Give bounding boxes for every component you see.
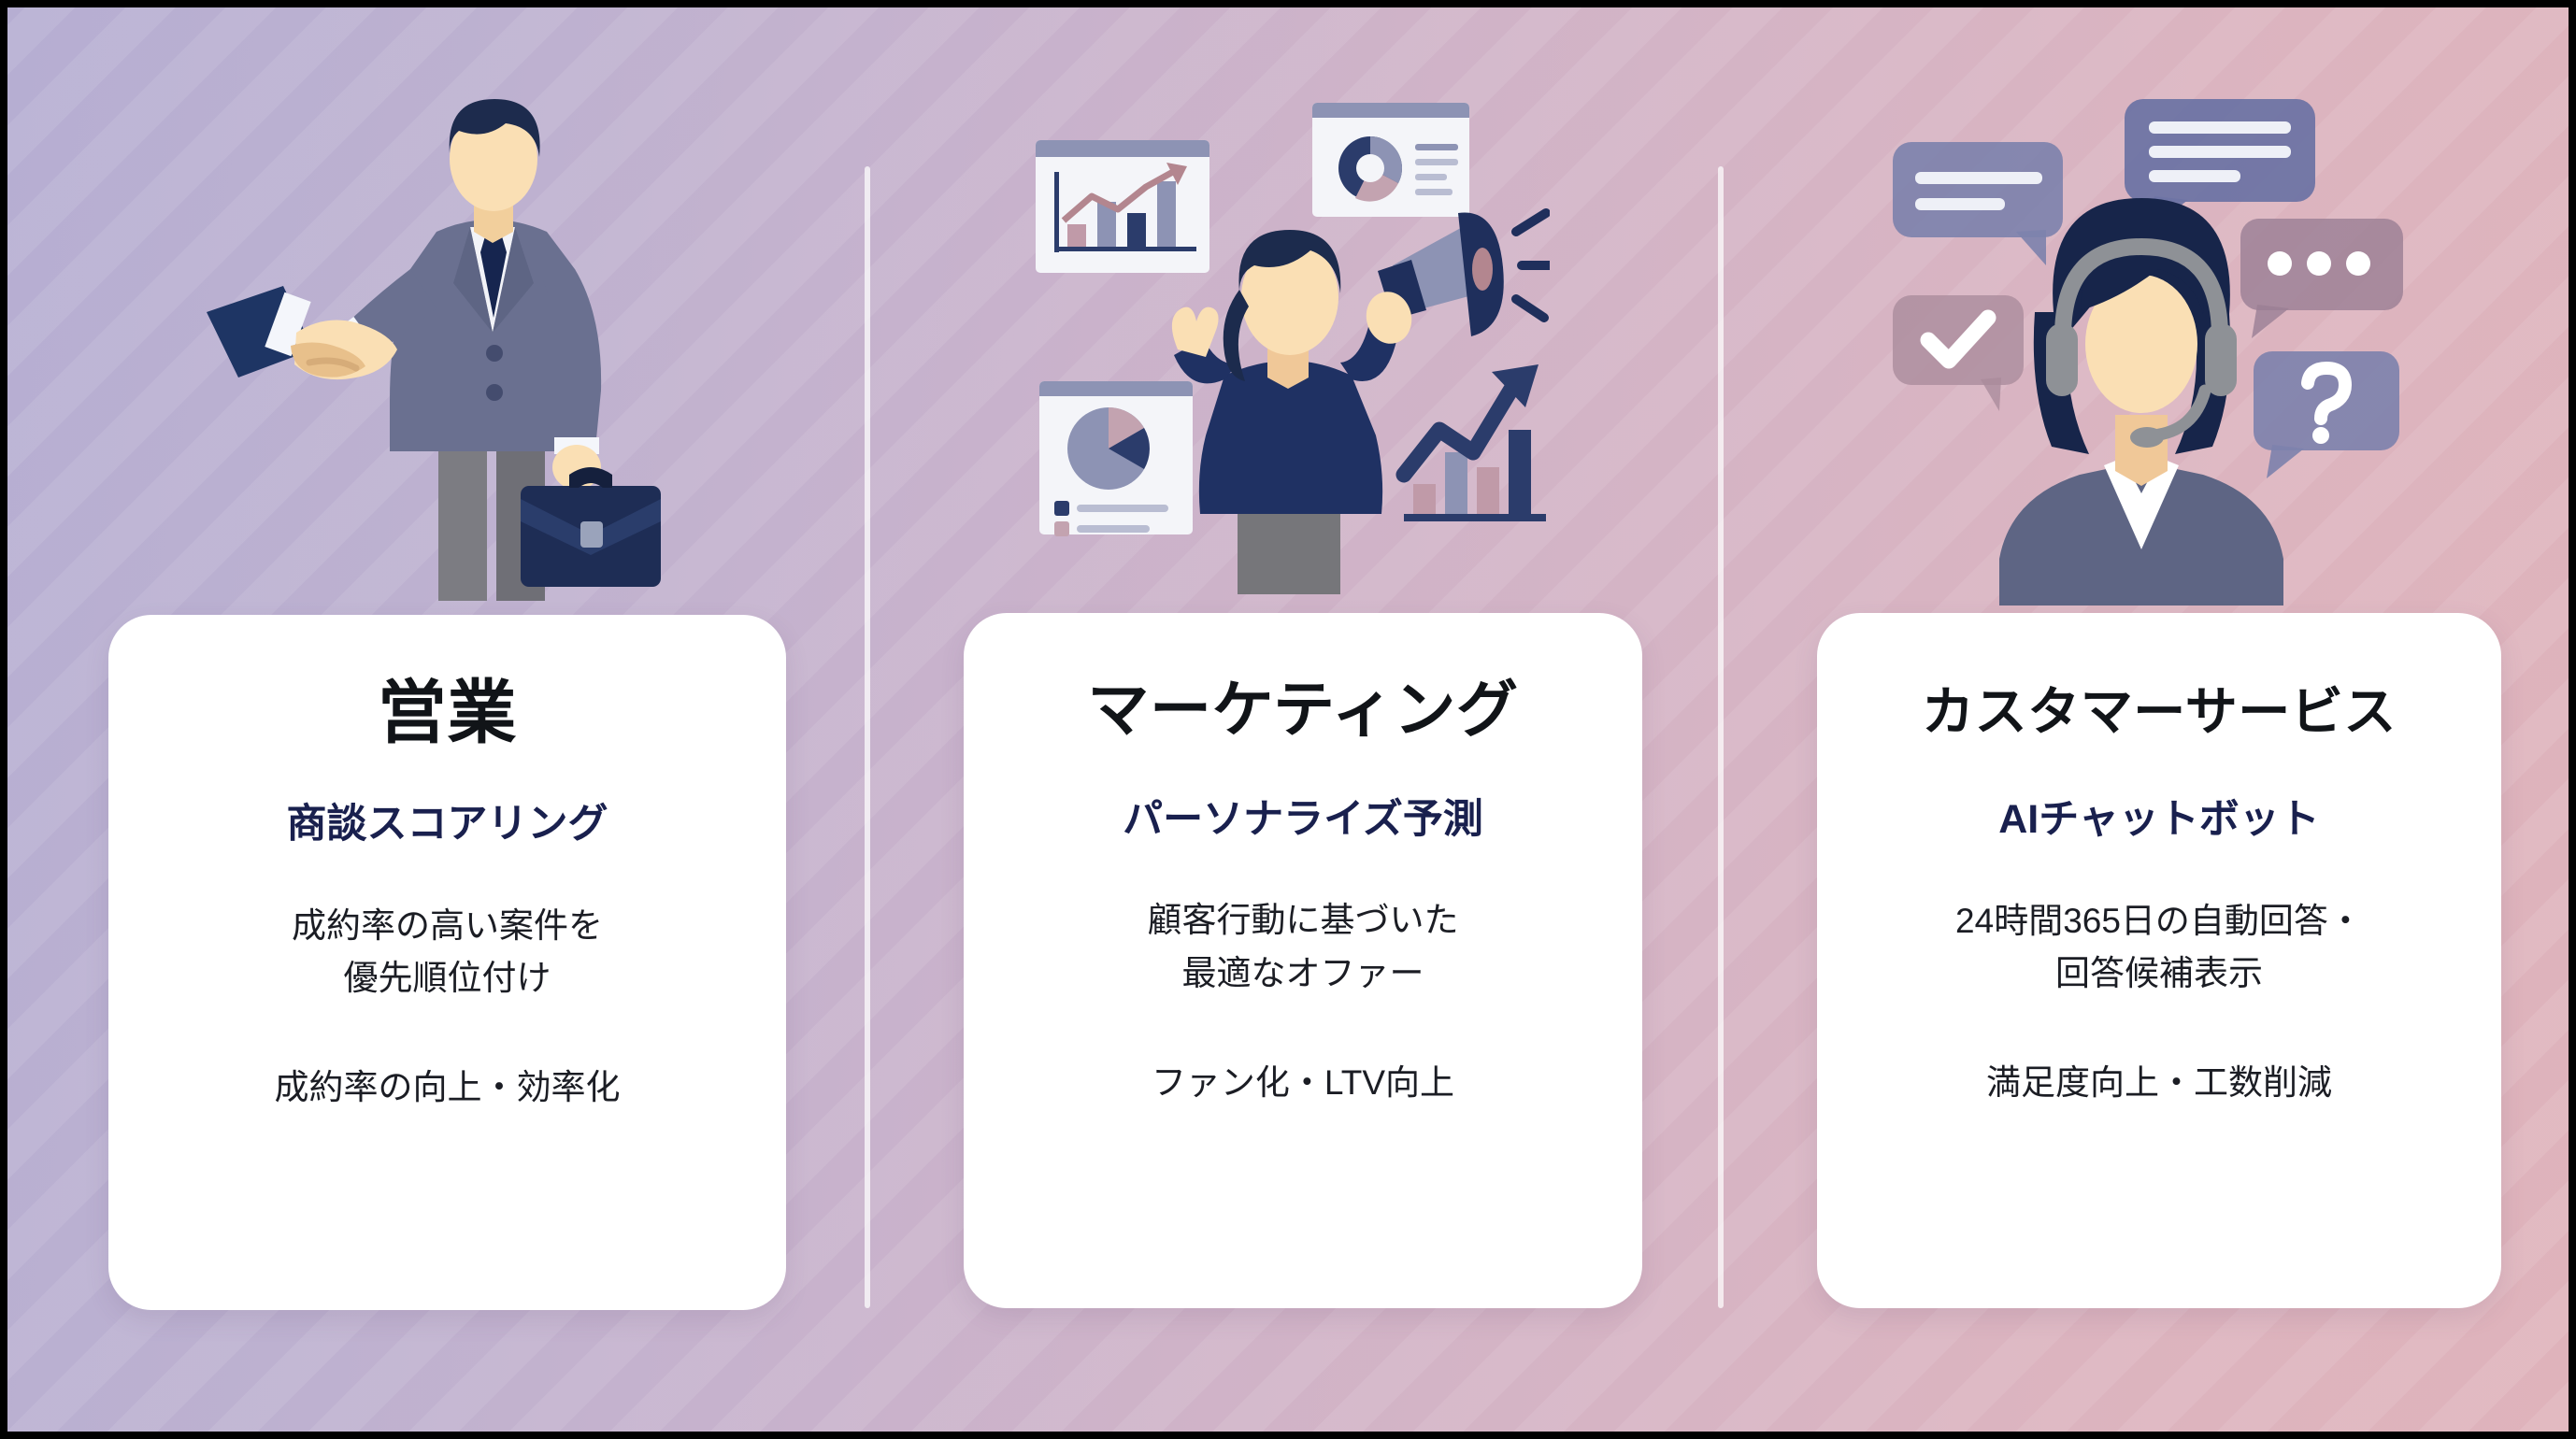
card-subtitle: AIチャットボット bbox=[1817, 796, 2501, 845]
businessman-handshake-briefcase-illustration bbox=[173, 82, 696, 606]
card-description-line-2: 最適なオファー bbox=[964, 947, 1642, 1000]
support-agent-headset-chat-bubbles-illustration bbox=[1880, 82, 2403, 606]
card-benefit: 成約率の向上・効率化 bbox=[108, 1059, 786, 1109]
card-subtitle: 商談スコアリング bbox=[108, 801, 786, 849]
card-title: 営業 bbox=[108, 673, 786, 752]
card-title: カスタマーサービス bbox=[1817, 682, 2501, 742]
marketing-woman-megaphone-charts-illustration bbox=[1026, 82, 1550, 606]
column-customer-service: カスタマーサービス AIチャットボット 24時間365日の自動回答・ 回答候補表… bbox=[1714, 7, 2568, 1432]
card-subtitle: パーソナライズ予測 bbox=[964, 796, 1642, 845]
card-benefit: 満足度向上・工数削減 bbox=[1817, 1054, 2501, 1104]
card-description: 成約率の高い案件を 優先順位付け bbox=[108, 900, 786, 1004]
column-sales: 営業 商談スコアリング 成約率の高い案件を 優先順位付け 成約率の向上・効率化 bbox=[7, 7, 861, 1432]
card-title: マーケティング bbox=[964, 675, 1642, 746]
card-description-line-2: 回答候補表示 bbox=[1817, 947, 2501, 1000]
card-description-line-1: 成約率の高い案件を bbox=[292, 906, 603, 945]
card-description: 顧客行動に基づいた 最適なオファー bbox=[964, 894, 1642, 999]
column-marketing: マーケティング パーソナライズ予測 顧客行動に基づいた 最適なオファー ファン化… bbox=[861, 7, 1714, 1432]
card-marketing[interactable]: マーケティング パーソナライズ予測 顧客行動に基づいた 最適なオファー ファン化… bbox=[964, 613, 1642, 1308]
card-sales[interactable]: 営業 商談スコアリング 成約率の高い案件を 優先順位付け 成約率の向上・効率化 bbox=[108, 615, 786, 1310]
slide-canvas: 営業 商談スコアリング 成約率の高い案件を 優先順位付け 成約率の向上・効率化 bbox=[7, 7, 2569, 1432]
card-customer-service[interactable]: カスタマーサービス AIチャットボット 24時間365日の自動回答・ 回答候補表… bbox=[1817, 613, 2501, 1308]
card-description-line-1: 顧客行動に基づいた bbox=[1148, 901, 1459, 939]
card-description-line-2: 優先順位付け bbox=[108, 952, 786, 1004]
woman-figure bbox=[1171, 230, 1416, 594]
card-description-line-1: 24時間365日の自動回答・ bbox=[1955, 902, 2363, 940]
card-description: 24時間365日の自動回答・ 回答候補表示 bbox=[1817, 895, 2501, 1000]
card-benefit: ファン化・LTV向上 bbox=[964, 1054, 1642, 1104]
